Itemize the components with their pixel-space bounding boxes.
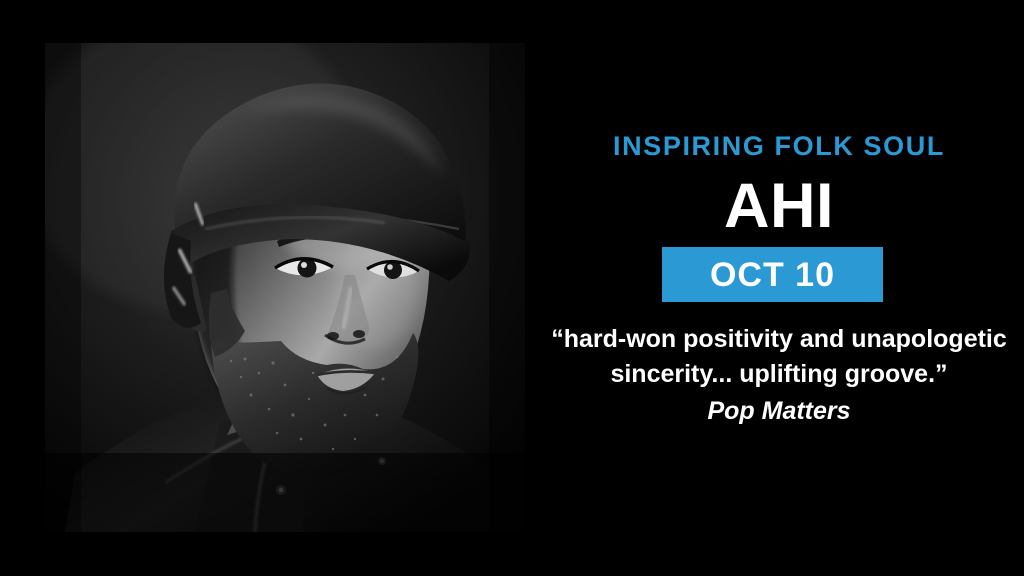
press-quote: “hard-won positivity and unapologetic si… [534, 322, 1024, 428]
event-details-panel: INSPIRING FOLK SOUL AHI OCT 10 “hard-won… [534, 0, 1024, 576]
artist-name-heading: AHI [534, 175, 1024, 238]
artist-portrait-photo [45, 43, 525, 532]
quote-line-1: “hard-won positivity and unapologetic [534, 322, 1024, 357]
portrait-illustration [45, 43, 525, 532]
quote-source: Pop Matters [534, 394, 1024, 428]
genre-tagline: INSPIRING FOLK SOUL [534, 133, 1024, 160]
date-badge-label: OCT 10 [710, 258, 835, 292]
event-poster: INSPIRING FOLK SOUL AHI OCT 10 “hard-won… [0, 0, 1024, 576]
date-badge: OCT 10 [662, 247, 883, 302]
quote-line-2: sincerity... uplifting groove.” [534, 357, 1024, 392]
